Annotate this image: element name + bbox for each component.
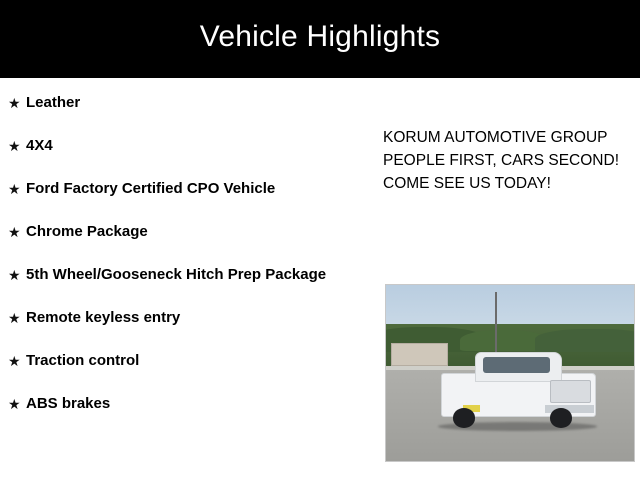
vehicle-photo <box>385 284 635 462</box>
list-item: ★ ABS brakes <box>8 393 363 414</box>
list-item-label: 5th Wheel/Gooseneck Hitch Prep Package <box>26 264 326 285</box>
star-icon: ★ <box>8 307 26 328</box>
list-item: ★ Traction control <box>8 350 363 371</box>
dealer-name: KORUM AUTOMOTIVE GROUP <box>383 126 633 149</box>
list-item-label: Leather <box>26 92 80 113</box>
list-item-label: Ford Factory Certified CPO Vehicle <box>26 178 275 199</box>
list-item-label: Chrome Package <box>26 221 148 242</box>
list-item-label: ABS brakes <box>26 393 110 414</box>
star-icon: ★ <box>8 135 26 156</box>
list-item: ★ Ford Factory Certified CPO Vehicle <box>8 178 363 199</box>
truck-window <box>483 357 550 373</box>
background-building <box>391 343 448 366</box>
page-title: Vehicle Highlights <box>0 20 640 54</box>
dealer-slogan: PEOPLE FIRST, CARS SECOND! <box>383 149 633 172</box>
header-banner: Vehicle Highlights <box>0 0 640 78</box>
dealer-call-to-action: COME SEE US TODAY! <box>383 172 633 195</box>
truck-grille <box>550 380 592 403</box>
truck-wheel-front <box>550 408 572 427</box>
list-item: ★ 5th Wheel/Gooseneck Hitch Prep Package <box>8 264 363 285</box>
list-item: ★ Chrome Package <box>8 221 363 242</box>
tree-shape <box>535 329 635 352</box>
list-item: ★ Leather <box>8 92 363 113</box>
vehicle-highlights-list: ★ Leather ★ 4X4 ★ Ford Factory Certified… <box>8 92 363 436</box>
list-item: ★ Remote keyless entry <box>8 307 363 328</box>
tree-shape <box>460 330 544 351</box>
list-item-label: Remote keyless entry <box>26 307 180 328</box>
list-item-label: 4X4 <box>26 135 53 156</box>
dealer-message: KORUM AUTOMOTIVE GROUP PEOPLE FIRST, CAR… <box>383 126 633 195</box>
star-icon: ★ <box>8 221 26 242</box>
star-icon: ★ <box>8 393 26 414</box>
star-icon: ★ <box>8 92 26 113</box>
list-item-label: Traction control <box>26 350 139 371</box>
star-icon: ★ <box>8 350 26 371</box>
star-icon: ★ <box>8 264 26 285</box>
vehicle-photo-illustration <box>386 285 634 461</box>
list-item: ★ 4X4 <box>8 135 363 156</box>
slide-page: Vehicle Highlights ★ Leather ★ 4X4 ★ For… <box>0 0 640 480</box>
truck-wheel-rear <box>453 408 475 427</box>
star-icon: ★ <box>8 178 26 199</box>
